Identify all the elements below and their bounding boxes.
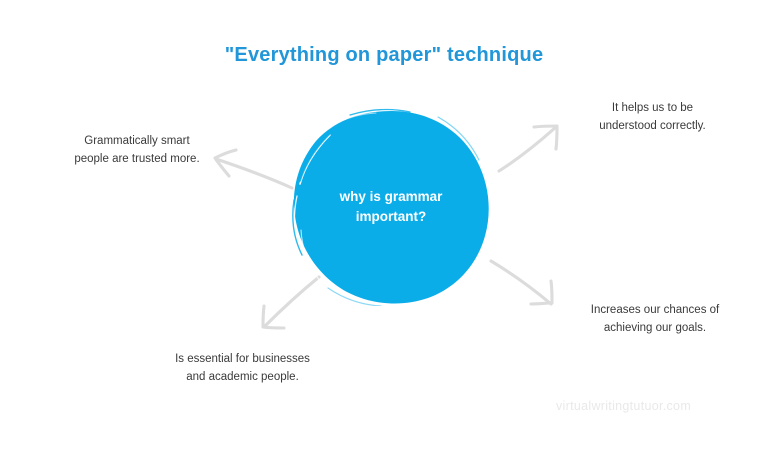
callout-bottom-left-line2: and academic people.	[145, 369, 340, 387]
callout-top-left: Grammatically smart people are trusted m…	[42, 133, 232, 169]
callout-top-left-line1: Grammatically smart	[42, 133, 232, 151]
arrow-down-right-icon	[491, 261, 552, 304]
diagram-canvas: "Everything on paper" technique	[0, 0, 768, 461]
callout-bottom-left-line1: Is essential for businesses	[145, 351, 340, 369]
callout-bottom-right: Increases our chances of achieving our g…	[560, 302, 750, 338]
callout-bottom-right-line2: achieving our goals.	[560, 320, 750, 338]
callout-top-left-line2: people are trusted more.	[42, 151, 232, 169]
watermark: virtualwritingtutuor.com	[556, 399, 691, 413]
circle-shape-icon	[288, 108, 494, 306]
arrow-up-right-icon	[499, 126, 557, 171]
callout-top-right: It helps us to be understood correctly.	[560, 100, 745, 136]
page-title: "Everything on paper" technique	[0, 44, 768, 67]
callout-bottom-left: Is essential for businesses and academic…	[145, 351, 340, 387]
callout-bottom-right-line1: Increases our chances of	[560, 302, 750, 320]
callout-top-right-line1: It helps us to be	[560, 100, 745, 118]
center-node: why is grammar important?	[288, 108, 494, 306]
callout-top-right-line2: understood correctly.	[560, 118, 745, 136]
